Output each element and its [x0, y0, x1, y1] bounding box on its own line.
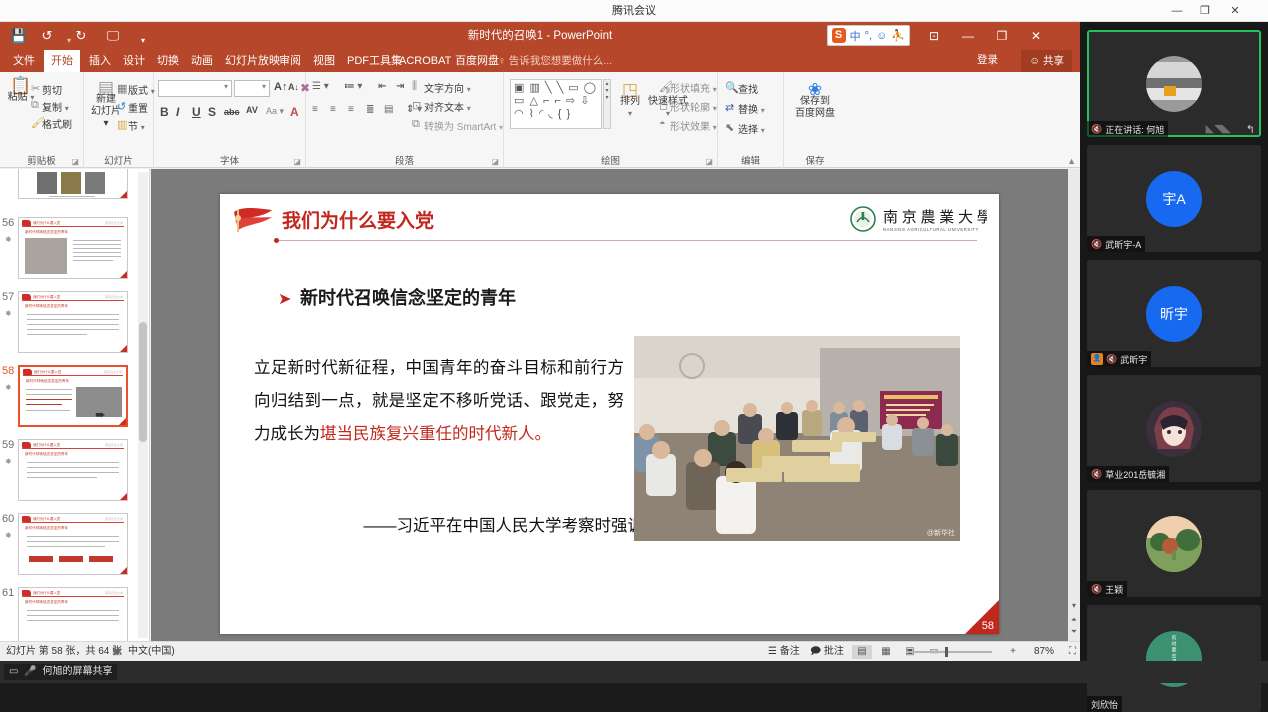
columns-button[interactable]: ▤	[384, 104, 393, 115]
copy-icon: ⧉	[31, 99, 39, 112]
notes-button[interactable]: ☰ 备注	[768, 642, 800, 662]
thumb-sub-57: 新时代呼唤信念坚定的青年	[25, 304, 68, 309]
participant-namebar-3: 🔇 草业201岳毓湘	[1087, 466, 1169, 482]
ribbon-group-drawing: ▣ ▥ ╲ ╲ ▭ ◯ ▭ △ ⌐ ⌐ ⇨ ⇩ ◠ ⌇ ◜ ◟ { } ▴▾▾ …	[504, 72, 718, 168]
ribbon-group-paragraph: ☰ ▾ ≔ ▾ ⇤ ⇥ ≡ ≡ ≡ ≣ ▤ ⇕ ▾ ⫼ 文字方向 ▾ ⊡ 对齐文…	[306, 72, 504, 168]
format-painter-icon: 🖌	[31, 116, 45, 129]
layout-button[interactable]: ▦ 版式 ▾	[128, 82, 155, 97]
ribbon-home: 📋 粘贴 ▾ ✂ 剪切 ⧉ 复制 ▾ 🖌 格式刷 剪贴板	[0, 72, 1080, 168]
font-color-button[interactable]: A	[290, 105, 299, 119]
select-icon: ⬉	[725, 121, 734, 134]
thumbnail-number-59: 59	[2, 439, 14, 451]
meeting-close-button[interactable]: ✕	[1222, 0, 1248, 22]
shape-fill-icon: 🖌	[659, 80, 673, 93]
thumb-sub-60: 新时代呼唤信念坚定的青年	[25, 526, 68, 531]
body-highlight: 堪当民族复兴重任的时代新人	[320, 425, 535, 443]
comment-icon: 🗩	[810, 646, 821, 657]
group-label-save: 保存	[784, 153, 846, 167]
thumbnail-star-57: ✸	[5, 309, 12, 318]
clipboard-dialog-launcher[interactable]: ◪	[71, 157, 79, 166]
powerpoint-close-button[interactable]: ✕	[1020, 22, 1052, 50]
find-button[interactable]: 🔍 查找	[738, 81, 758, 96]
participant-tile-3[interactable]: 🔇 草业201岳毓湘	[1087, 375, 1261, 482]
group-label-font: 字体	[154, 153, 305, 167]
avatar-initials: 宇A	[1162, 189, 1185, 209]
shape-fill-button[interactable]: 🖌 形状填充 ▾	[670, 80, 717, 95]
bullet-arrow-icon: ➤	[278, 289, 291, 309]
strikethrough-button[interactable]: abc	[224, 107, 240, 117]
participant-tile-4[interactable]: 🔇 王颖	[1087, 490, 1261, 597]
font-size-dropdown-icon[interactable]: ▾	[262, 82, 266, 91]
screen-share-indicator[interactable]: ▭ 🎤 何旭的屏幕共享	[4, 664, 117, 680]
replace-icon: ⇄	[725, 101, 734, 114]
replace-button[interactable]: ⇄ 替换 ▾	[738, 101, 765, 116]
shape-outline-icon: ◻	[659, 99, 668, 112]
align-center-button[interactable]: ≡	[330, 104, 336, 115]
decrease-indent-button[interactable]: ⇤	[378, 81, 386, 92]
format-painter-button[interactable]: 🖌 格式刷	[42, 116, 72, 131]
zoom-slider-knob[interactable]	[945, 647, 948, 657]
align-text-button[interactable]: ⊡ 对齐文本 ▾	[424, 99, 471, 114]
participant-namebar-4: 🔇 王颖	[1087, 581, 1127, 597]
ime-punctuation-icon[interactable]: °,	[865, 30, 872, 42]
current-slide[interactable]: 我们为什么要入党 南 京 農 業 大 學 NANJING AGRICULTURA…	[220, 194, 999, 634]
tab-home[interactable]: 开始	[44, 50, 80, 72]
thumbnail-number-56: 56	[2, 217, 14, 229]
powerpoint-restore-button[interactable]: ❐	[986, 22, 1018, 50]
person-add-icon: ☺	[1029, 55, 1040, 67]
thumbnail-number-57: 57	[2, 291, 14, 303]
microphone-icon: 🎤	[24, 666, 36, 677]
thumbnail-slide-56[interactable]: 我们为什么要入党南京农业大学 新时代呼唤信念坚定的青年	[18, 217, 128, 279]
thumb-sub-59: 新时代呼唤信念坚定的青年	[25, 452, 68, 457]
shared-screen-powerpoint: 💾 ↺ ▾ ↻ 🖵 ▾ 新时代的召唤1 - PowerPoint S 中 °, …	[0, 22, 1080, 661]
thumb-title-61: 我们为什么要入党	[33, 590, 60, 595]
slide-attribution: ——习近平在中国人民大学考察时强调	[254, 512, 644, 536]
slide-sorter-view-button[interactable]: ▦	[876, 645, 896, 659]
participant-name-5: 刘欣怡	[1091, 698, 1118, 711]
participant-name-0: 正在讲话: 何旭	[1105, 123, 1164, 136]
tab-animations[interactable]: 动画	[184, 50, 220, 72]
numbering-button[interactable]: ≔ ▾	[344, 81, 362, 92]
zoom-level-label[interactable]: 87%	[1034, 642, 1054, 662]
text-shadow-button[interactable]: S	[208, 105, 216, 119]
avatar	[1146, 516, 1202, 572]
thumbnail-number-61: 61	[2, 587, 14, 599]
ime-toolbox-icon[interactable]: ⛹	[891, 29, 905, 42]
thumbnail-slide-60[interactable]: 我们为什么要入党南京农业大学 新时代呼唤信念坚定的青年	[18, 513, 128, 575]
thumb-title-57: 我们为什么要入党	[33, 294, 60, 299]
mic-muted-icon: 🔇	[1091, 469, 1102, 480]
group-label-slides: 幻灯片	[84, 153, 153, 167]
group-label-editing: 编辑	[718, 153, 783, 167]
meeting-title: 腾讯会议	[0, 0, 1268, 22]
group-label-drawing: 绘图	[504, 153, 717, 167]
copy-button[interactable]: ⧉ 复制 ▾	[42, 99, 69, 114]
meeting-minimize-button[interactable]: —	[1164, 0, 1190, 22]
slide-header-rule	[277, 240, 977, 241]
thumb-sub-56: 新时代呼唤信念坚定的青年	[25, 230, 68, 235]
next-slide-button[interactable]: ⏷	[1069, 627, 1079, 639]
audio-wave-icon: ◣◥◣	[1206, 122, 1231, 135]
ribbon-group-clipboard: 📋 粘贴 ▾ ✂ 剪切 ⧉ 复制 ▾ 🖌 格式刷 剪贴板	[0, 72, 84, 168]
thumbnail-star-58: ✸	[5, 383, 12, 392]
avatar: 昕宇	[1146, 286, 1202, 342]
fit-slide-to-window-icon[interactable]: ⛶	[1069, 642, 1076, 662]
reset-icon: ↺	[117, 100, 126, 113]
participant-name-3: 草业201岳毓湘	[1105, 468, 1165, 481]
section-icon: ▥	[117, 118, 127, 131]
slide-thumbnail-pane[interactable]: 56 ✸ 我们为什么要入党南京农业大学 新时代呼唤信念坚定的青年 57 ✸ 我们…	[0, 169, 150, 641]
party-flag-icon	[232, 206, 274, 236]
svg-text:南 京 農 業 大 學: 南 京 農 業 大 學	[883, 208, 987, 226]
thumb-title-60: 我们为什么要入党	[33, 516, 60, 521]
notes-icon: ☰	[768, 646, 777, 657]
ime-emoji-icon[interactable]: ☺	[876, 30, 887, 42]
shapes-row-3[interactable]: ◠ ⌇ ◜ ◟ { }	[514, 108, 598, 121]
meeting-titlebar: 腾讯会议 — ❐ ✕	[0, 0, 1268, 22]
participant-namebar-0: 🔇 正在讲话: 何旭	[1087, 121, 1168, 137]
participant-tile-5[interactable]: 有时要去遇见晨光 刘欣怡	[1087, 605, 1261, 712]
slide-count-label: 幻灯片 第 58 张，共 64 张	[6, 642, 122, 662]
underline-button[interactable]: U	[192, 105, 201, 119]
meeting-window: 腾讯会议 — ❐ ✕ 💾 ↺ ▾ ↻ 🖵 ▾ 新时代的召唤1 - PowerPo…	[0, 0, 1268, 683]
meeting-bottom-bar: ▭ 🎤 何旭的屏幕共享	[0, 661, 1268, 683]
scroll-down-arrow-icon[interactable]: ▾	[1069, 601, 1079, 613]
university-logo: 南 京 農 業 大 學 NANJING AGRICULTURAL UNIVERS…	[847, 202, 987, 236]
text-direction-button[interactable]: ⫼ 文字方向 ▾	[424, 80, 471, 95]
normal-view-button[interactable]: ▤	[852, 645, 872, 659]
body-suffix: 。	[535, 425, 552, 443]
share-button[interactable]: ☺ 共享	[1021, 50, 1072, 72]
thumb-title-56: 我们为什么要入党	[33, 220, 60, 225]
justify-button[interactable]: ≣	[366, 104, 374, 115]
tab-design[interactable]: 设计	[116, 50, 152, 72]
thumbnail-number-58: 58	[2, 365, 14, 377]
ribbon-group-slides: ▤ 新建幻灯片 ▾ ▦ 版式 ▾ ↺ 重置 ▥ 节 ▾ 幻灯片	[84, 72, 154, 168]
align-left-button[interactable]: ≡	[312, 104, 318, 115]
participant-tile-2[interactable]: 昕宇 👤 🔇 武昕宇	[1087, 260, 1261, 367]
thumbnail-slide-57[interactable]: 我们为什么要入党南京农业大学 新时代呼唤信念坚定的青年	[18, 291, 128, 353]
group-label-paragraph: 段落	[306, 153, 503, 167]
ribbon-group-editing: 🔍 查找 ⇄ 替换 ▾ ⬉ 选择 ▾ 编辑	[718, 72, 784, 168]
avatar	[1146, 401, 1202, 457]
comments-label: 批注	[824, 646, 844, 657]
participant-name-1: 武昕宇-A	[1105, 238, 1141, 251]
comments-button[interactable]: 🗩 批注	[810, 642, 844, 662]
ime-toolbar[interactable]: S 中 °, ☺ ⛹	[827, 25, 910, 46]
bold-button[interactable]: B	[160, 105, 169, 119]
zoom-slider-track[interactable]	[906, 651, 992, 653]
powerpoint-minimize-button[interactable]: —	[952, 22, 984, 50]
text-direction-icon: ⫼	[412, 80, 417, 93]
tab-insert[interactable]: 插入	[82, 50, 118, 72]
screen-icon: ▭	[9, 666, 18, 677]
photo-watermark: @新华社	[927, 528, 955, 538]
mic-muted-icon: 🔇	[1091, 239, 1102, 250]
participant-name-4: 王颖	[1105, 583, 1123, 596]
mouse-cursor: ➨	[95, 407, 106, 423]
tell-me-placeholder: 告诉我您想要做什么...	[509, 55, 612, 67]
sign-in-link[interactable]: 登录	[977, 52, 998, 67]
thumbnail-slide-61[interactable]: 我们为什么要入党南京农业大学 新时代呼唤信念坚定的青年	[18, 587, 128, 641]
shapes-gallery[interactable]: ▣ ▥ ╲ ╲ ▭ ◯ ▭ △ ⌐ ⌐ ⇨ ⇩ ◠ ⌇ ◜ ◟ { }	[510, 79, 602, 129]
shapes-row-2[interactable]: ▭ △ ⌐ ⌐ ⇨ ⇩	[514, 95, 598, 108]
font-dialog-launcher[interactable]: ◪	[293, 157, 301, 166]
reply-icon[interactable]: ↰	[1246, 123, 1255, 136]
lightbulb-icon: ♀	[498, 55, 506, 67]
participant-namebar-2: 👤 🔇 武昕宇	[1087, 351, 1151, 367]
participant-namebar-5: 刘欣怡	[1087, 696, 1122, 712]
ribbon-group-font: ▾ ▾ A↑ A↓ ✖ B I U S abc AV Aa ▾ A 字体 ◪	[154, 72, 306, 168]
ime-mode-label[interactable]: 中	[850, 28, 861, 44]
tab-file[interactable]: 文件	[6, 50, 42, 72]
thumbnail-number-60: 60	[2, 513, 14, 525]
select-button[interactable]: ⬉ 选择 ▾	[738, 121, 765, 136]
participant-tile-0[interactable]: 🔇 正在讲话: 何旭 ◣◥◣ ↰	[1087, 30, 1261, 137]
layout-icon: ▦	[117, 82, 127, 95]
thumbnail-slide-55[interactable]	[18, 169, 128, 199]
ribbon-tabs: 文件 开始 插入 设计 切换 动画 幻灯片放映 审阅 视图 PDF工具集 ACR…	[0, 50, 1080, 72]
avatar-initials: 昕宇	[1160, 304, 1188, 324]
share-indicator-label: 何旭的屏幕共享	[42, 666, 112, 677]
section-button[interactable]: ▥ 节 ▾	[128, 118, 145, 133]
thumb-sub-61: 新时代呼唤信念坚定的青年	[25, 600, 68, 605]
shape-effects-button[interactable]: ◓ 形状效果 ▾	[670, 118, 717, 133]
participant-rail[interactable]: 🔇 正在讲话: 何旭 ◣◥◣ ↰ 宇A 🔇 武昕宇-A 昕宇 👤 🔇 武昕宇	[1080, 22, 1268, 661]
language-label[interactable]: 中文(中国)	[128, 642, 175, 662]
shapes-row-1[interactable]: ▣ ▥ ╲ ╲ ▭ ◯	[514, 82, 598, 95]
cut-button[interactable]: ✂ 剪切	[42, 82, 62, 97]
tab-view[interactable]: 视图	[306, 50, 342, 72]
character-spacing-button[interactable]: AV	[246, 105, 258, 115]
slide-body-text: 立足新时代新征程，中国青年的奋斗目标和前行方向归结到一点，就是坚定不移听党话、跟…	[254, 352, 624, 451]
thumb-sub-58: 新时代呼唤信念坚定的青年	[26, 379, 69, 384]
proofing-icon[interactable]: ▣	[112, 642, 121, 662]
ribbon-display-options-button[interactable]: ⊡	[918, 22, 950, 50]
meeting-maximize-button[interactable]: ❐	[1192, 0, 1218, 22]
thumbnail-slide-58[interactable]: 我们为什么要入党南京农业大学 新时代呼唤信念坚定的青年	[18, 365, 128, 427]
notes-label: 备注	[780, 646, 800, 657]
thumbnail-star-56: ✸	[5, 235, 12, 244]
increase-indent-button[interactable]: ⇥	[396, 81, 404, 92]
shape-outline-button[interactable]: ◻ 形状轮廓 ▾	[670, 99, 717, 114]
thumbnail-star-59: ✸	[5, 457, 12, 466]
shapes-gallery-scroll[interactable]: ▴▾▾	[603, 79, 611, 129]
thumb-title-58: 我们为什么要入党	[34, 369, 61, 374]
slide-header-title: 我们为什么要入党	[282, 206, 434, 233]
ribbon-group-save: ❀ 保存到百度网盘 保存	[784, 72, 846, 168]
thumbnail-slide-59[interactable]: 我们为什么要入党南京农业大学 新时代呼唤信念坚定的青年	[18, 439, 128, 501]
bullets-button[interactable]: ☰ ▾	[312, 81, 329, 92]
arrange-icon: ◳	[616, 84, 644, 96]
font-name-input[interactable]	[158, 80, 232, 97]
slide-editing-area[interactable]: 我们为什么要入党 南 京 農 業 大 學 NANJING AGRICULTURA…	[151, 169, 1080, 641]
sogou-ime-icon[interactable]: S	[832, 28, 846, 43]
tab-review[interactable]: 审阅	[272, 50, 308, 72]
scissors-icon: ✂	[31, 82, 40, 95]
avatar	[1146, 56, 1202, 112]
convert-to-smartart-button[interactable]: ⧉ 转换为 SmartArt ▾	[424, 118, 503, 133]
paragraph-dialog-launcher[interactable]: ◪	[491, 157, 499, 166]
search-icon: 🔍	[725, 81, 739, 94]
host-icon: 👤	[1091, 353, 1103, 365]
avatar: 宇A	[1146, 171, 1202, 227]
share-label: 共享	[1043, 55, 1064, 67]
smartart-icon: ⧉	[412, 118, 420, 131]
participant-tile-1[interactable]: 宇A 🔇 武昕宇-A	[1087, 145, 1261, 252]
powerpoint-titlebar: 💾 ↺ ▾ ↻ 🖵 ▾ 新时代的召唤1 - PowerPoint S 中 °, …	[0, 22, 1080, 50]
collapse-ribbon-icon[interactable]: ▲	[1067, 156, 1076, 166]
italic-button[interactable]: I	[176, 105, 179, 119]
slide-area-scrollbar[interactable]	[1068, 169, 1080, 641]
zoom-in-button[interactable]: +	[1010, 642, 1016, 662]
arrange-button[interactable]: ◳ 排列 ▾	[616, 84, 644, 120]
tab-transitions[interactable]: 切换	[150, 50, 186, 72]
svg-text:NANJING AGRICULTURAL UNIVERSIT: NANJING AGRICULTURAL UNIVERSITY	[883, 227, 979, 232]
previous-slide-button[interactable]: ⏶	[1069, 615, 1079, 627]
slide-corner-number: 58	[982, 620, 994, 632]
thumb-title-59: 我们为什么要入党	[33, 442, 60, 447]
mic-muted-icon: 🔇	[1091, 584, 1102, 595]
thumbnail-scrollbar-thumb[interactable]	[139, 322, 147, 442]
tell-me-box[interactable]: ♀ 告诉我您想要做什么...	[498, 50, 612, 72]
participant-namebar-1: 🔇 武昕宇-A	[1087, 236, 1145, 252]
font-name-dropdown-icon[interactable]: ▾	[224, 82, 228, 91]
mic-muted-icon: 🔇	[1106, 354, 1117, 365]
participant-name-2: 武昕宇	[1120, 353, 1147, 366]
change-case-button[interactable]: Aa ▾	[266, 106, 284, 117]
thumbnail-star-60: ✸	[5, 531, 12, 540]
increase-font-size-button[interactable]: A↑	[274, 81, 287, 93]
decrease-font-size-button[interactable]: A↓	[288, 82, 299, 92]
align-right-button[interactable]: ≡	[348, 104, 354, 115]
save-to-baidu-netdisk-button[interactable]: ❀ 保存到百度网盘	[790, 84, 840, 120]
reset-button[interactable]: ↺ 重置	[128, 100, 148, 115]
shape-effects-icon: ◓	[659, 118, 666, 130]
slide-bullet-heading: 新时代召唤信念坚定的青年	[300, 284, 516, 310]
slide-photo[interactable]: @新华社	[634, 336, 960, 541]
baidu-netdisk-icon: ❀	[790, 84, 840, 96]
slide-header-rule-dot	[274, 238, 279, 243]
drawing-dialog-launcher[interactable]: ◪	[705, 157, 713, 166]
align-text-icon: ⊡	[412, 99, 421, 112]
powerpoint-status-bar: 幻灯片 第 58 张，共 64 张 ▣ 中文(中国) ☰ 备注 🗩 批注 ▤ ▦…	[0, 641, 1080, 661]
mic-muted-icon: 🔇	[1091, 124, 1102, 135]
